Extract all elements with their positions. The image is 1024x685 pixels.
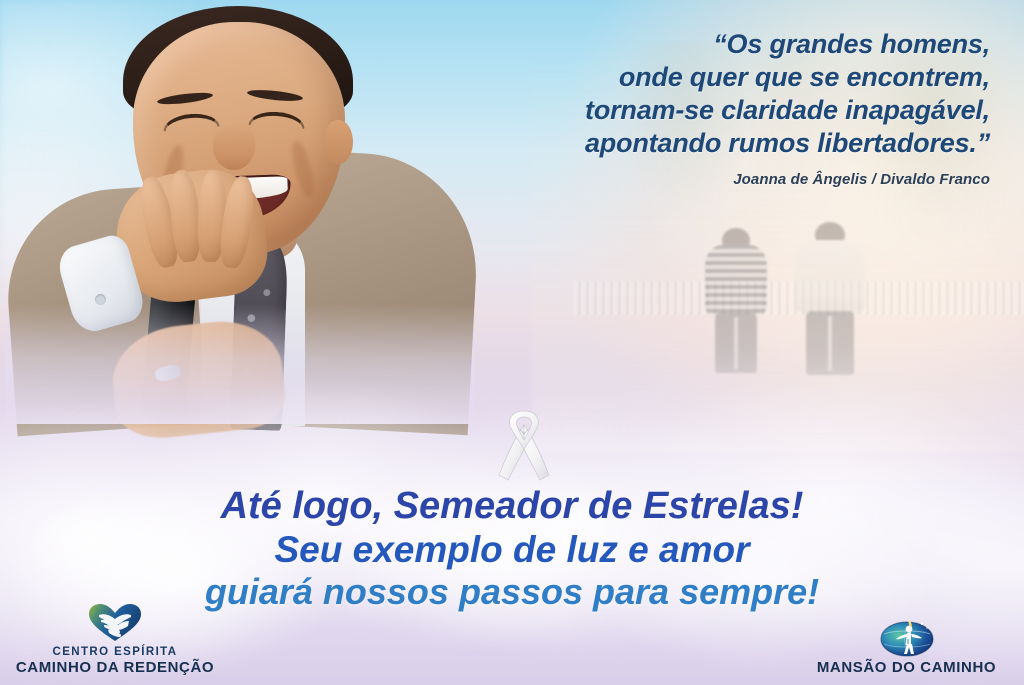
logo-line-main: CAMINHO DA REDENÇÃO: [10, 659, 220, 677]
background-figure-striped-shirt: [705, 245, 767, 370]
nose: [213, 124, 255, 170]
background-figure-white-shirt: [795, 240, 865, 372]
quote-block: “Os grandes homens, onde quer que se enc…: [430, 28, 990, 188]
logo-line-top: CENTRO ESPÍRITA: [10, 645, 220, 659]
figure-torso: [705, 245, 767, 315]
memorial-poster: “Os grandes homens, onde quer que se enc…: [0, 0, 1024, 685]
quote-line: apontando rumos libertadores.”: [430, 127, 990, 160]
logo-mansao-do-caminho: MANSÃO DO CAMINHO: [799, 617, 1014, 677]
hands-heart-icon: [10, 603, 220, 643]
tribute-line: Até logo, Semeador de Estrelas!: [0, 484, 1024, 528]
globe-figure-icon: [799, 617, 1014, 657]
logo-line-main: MANSÃO DO CAMINHO: [799, 659, 1014, 677]
quote-line: onde quer que se encontrem,: [430, 61, 990, 94]
quote-attribution: Joanna de Ângelis / Divaldo Franco: [430, 171, 990, 188]
quote-line: tornam-se claridade inapagável,: [430, 94, 990, 127]
white-ribbon-icon: [494, 409, 554, 483]
logo-centro-espirita-caminho-da-redencao: CENTRO ESPÍRITA CAMINHO DA REDENÇÃO: [10, 603, 220, 677]
figure-torso: [795, 240, 865, 314]
ear: [325, 120, 353, 164]
tribute-block: Até logo, Semeador de Estrelas! Seu exem…: [0, 484, 1024, 613]
quote-line: “Os grandes homens,: [430, 28, 990, 61]
tribute-line: Seu exemplo de luz e amor: [0, 528, 1024, 571]
